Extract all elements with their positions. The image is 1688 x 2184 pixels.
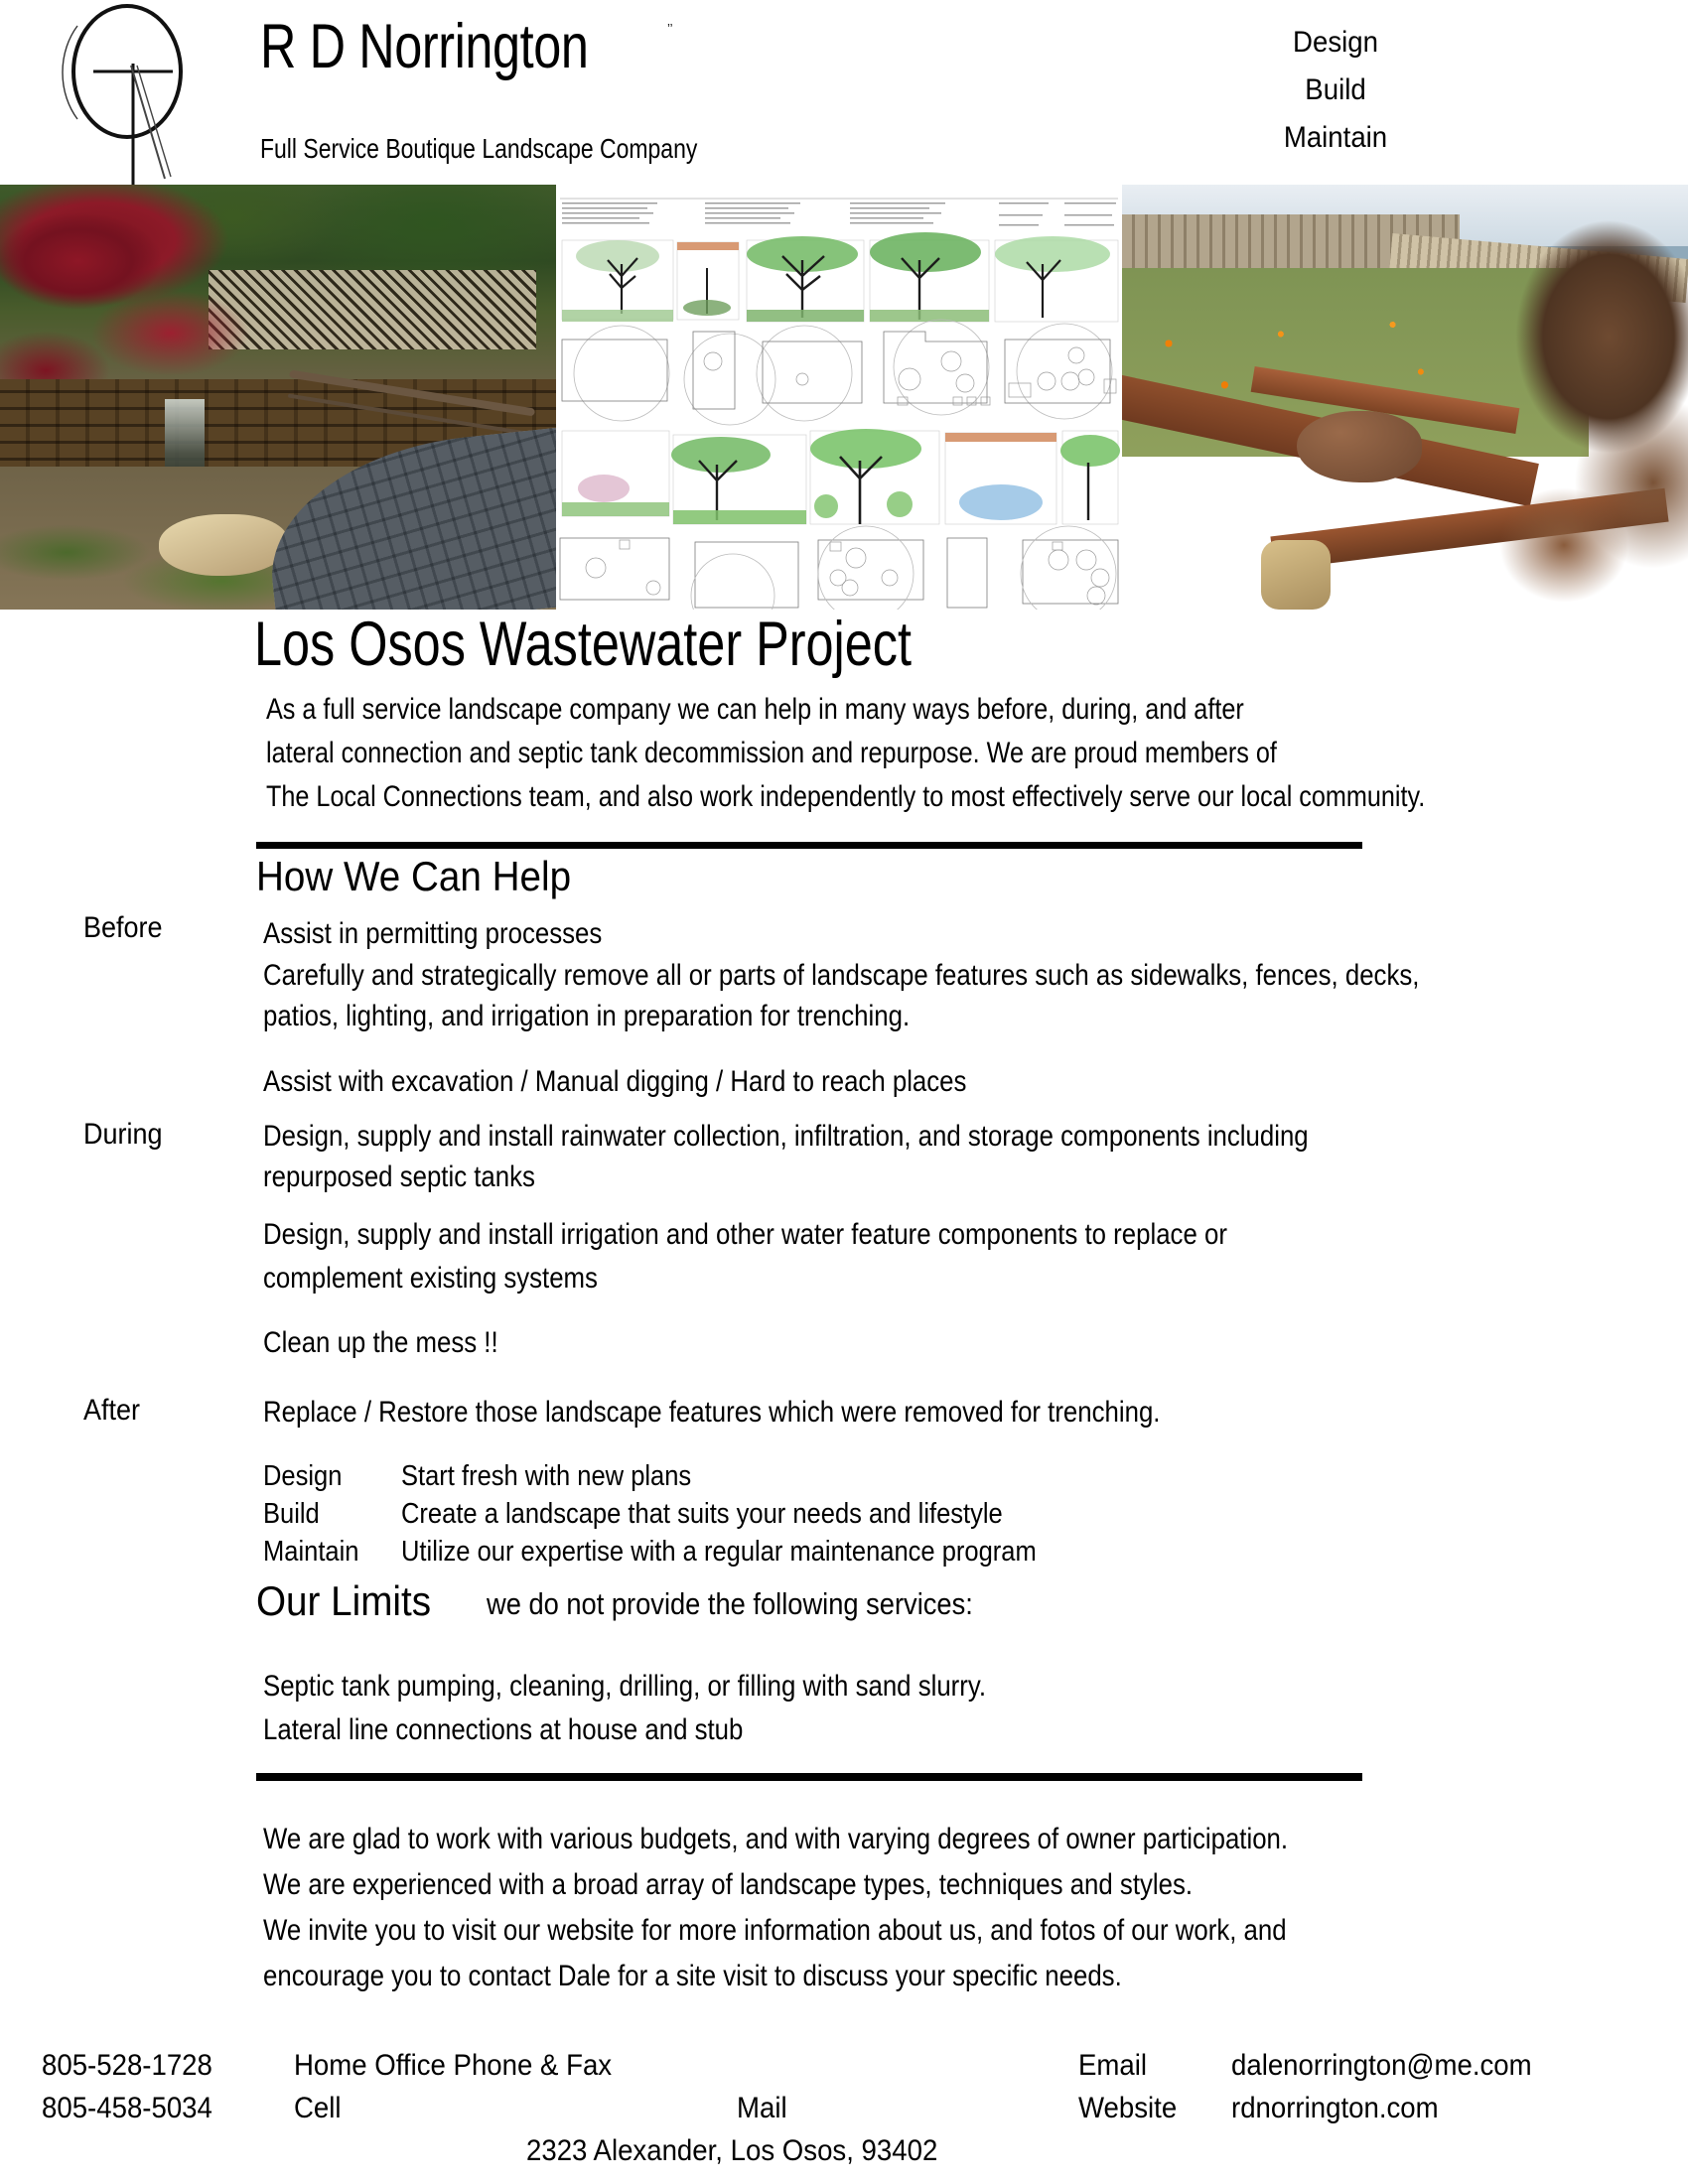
help-during-item-2-line-1: Design, supply and install irrigation an…	[263, 1220, 1227, 1250]
services-stack: Design Build Maintain	[1221, 28, 1450, 171]
service-build: Build	[1230, 75, 1441, 105]
section-heading-our-limits: Our Limits	[256, 1580, 431, 1622]
limits-item-1: Septic tank pumping, cleaning, drilling,…	[263, 1672, 986, 1702]
footer-website-value[interactable]: rdnorrington.com	[1231, 2094, 1439, 2123]
section-divider-bottom	[256, 1773, 1362, 1781]
intro-line-1: As a full service landscape company we c…	[266, 695, 1244, 725]
company-name: R D Norrington	[260, 16, 589, 78]
footer-website-label: Website	[1078, 2094, 1177, 2123]
help-before-item-2-line-1: Carefully and strategically remove all o…	[263, 961, 1419, 991]
phase-label-before: Before	[83, 913, 163, 943]
company-tagline: Full Service Boutique Landscape Company	[260, 135, 697, 163]
header-artifact-mark: ’’	[667, 22, 673, 35]
garden-waterfall-photo	[0, 185, 556, 610]
dbm-label-build: Build	[263, 1500, 320, 1529]
closing-line-4: encourage you to contact Dale for a site…	[263, 1962, 1122, 1991]
site-work-photo	[1122, 185, 1688, 610]
closing-line-1: We are glad to work with various budgets…	[263, 1825, 1288, 1854]
limits-item-2: Lateral line connections at house and st…	[263, 1715, 743, 1745]
page-header: R D Norrington Full Service Boutique Lan…	[0, 0, 1688, 185]
photo-banner	[0, 185, 1688, 610]
our-limits-subheading: we do not provide the following services…	[487, 1588, 973, 1619]
service-design: Design	[1230, 28, 1441, 58]
flyer-page: R D Norrington Full Service Boutique Lan…	[0, 0, 1688, 2184]
intro-line-3: The Local Connections team, and also wor…	[266, 782, 1425, 812]
closing-line-2: We are experienced with a broad array of…	[263, 1870, 1193, 1900]
footer-phone-home-label: Home Office Phone & Fax	[294, 2051, 612, 2081]
help-after-item-1-line-1: Replace / Restore those landscape featur…	[263, 1398, 1160, 1428]
closing-line-3: We invite you to visit our website for m…	[263, 1916, 1287, 1946]
service-maintain: Maintain	[1230, 123, 1441, 153]
help-during-item-1-line-2: repurposed septic tanks	[263, 1162, 535, 1192]
phase-label-after: After	[83, 1396, 140, 1426]
footer-email-label: Email	[1078, 2051, 1147, 2081]
rd-norrington-logo-icon	[62, 2, 201, 189]
help-before-item-3-line-1: Assist with excavation / Manual digging …	[263, 1067, 966, 1097]
section-heading-how-we-can-help: How We Can Help	[256, 856, 571, 897]
dbm-text-maintain: Utilize our expertise with a regular mai…	[401, 1538, 1037, 1567]
footer-mail-address: 2323 Alexander, Los Osos, 93402	[526, 2136, 937, 2166]
help-during-item-3-line-1: Clean up the mess !!	[263, 1328, 498, 1358]
footer-phone-home[interactable]: 805-528-1728	[42, 2051, 212, 2081]
footer-email-value[interactable]: dalenorrington@me.com	[1231, 2051, 1532, 2081]
footer-phone-cell[interactable]: 805-458-5034	[42, 2094, 212, 2123]
footer-mail-label: Mail	[737, 2094, 787, 2123]
page-title: Los Osos Wastewater Project	[254, 614, 912, 676]
help-during-item-1-line-1: Design, supply and install rainwater col…	[263, 1122, 1309, 1152]
help-before-item-2-line-2: patios, lighting, and irrigation in prep…	[263, 1002, 910, 1031]
dbm-label-maintain: Maintain	[263, 1538, 358, 1567]
intro-line-2: lateral connection and septic tank decom…	[266, 739, 1277, 768]
footer-phone-cell-label: Cell	[294, 2094, 342, 2123]
landscape-design-plan-sheet	[556, 185, 1122, 610]
phase-label-during: During	[83, 1120, 163, 1150]
help-during-item-2-line-2: complement existing systems	[263, 1264, 598, 1294]
dbm-text-design: Start fresh with new plans	[401, 1462, 691, 1491]
dbm-text-build: Create a landscape that suits your needs…	[401, 1500, 1003, 1529]
help-before-item-1-line-1: Assist in permitting processes	[263, 919, 602, 949]
dbm-label-design: Design	[263, 1462, 342, 1491]
section-divider-top	[256, 842, 1362, 849]
